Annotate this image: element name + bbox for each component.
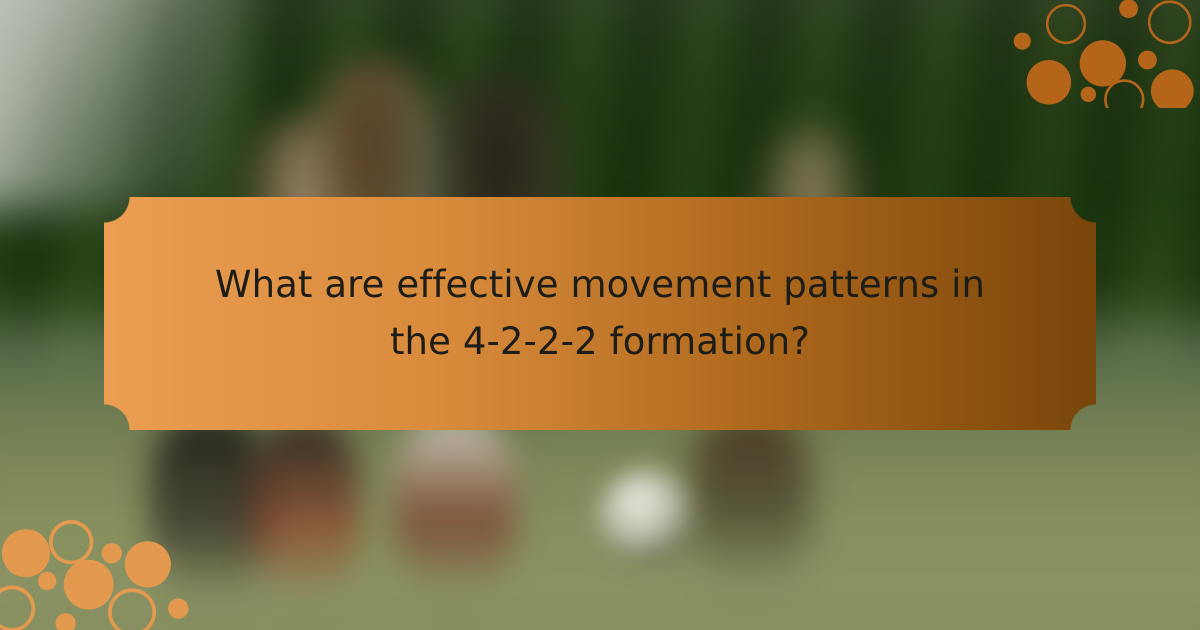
card-title: What are effective movement patterns in … [127,257,1073,369]
poster-canvas: What are effective movement patterns in … [0,0,1200,630]
headline-card: What are effective movement patterns in … [104,197,1096,430]
